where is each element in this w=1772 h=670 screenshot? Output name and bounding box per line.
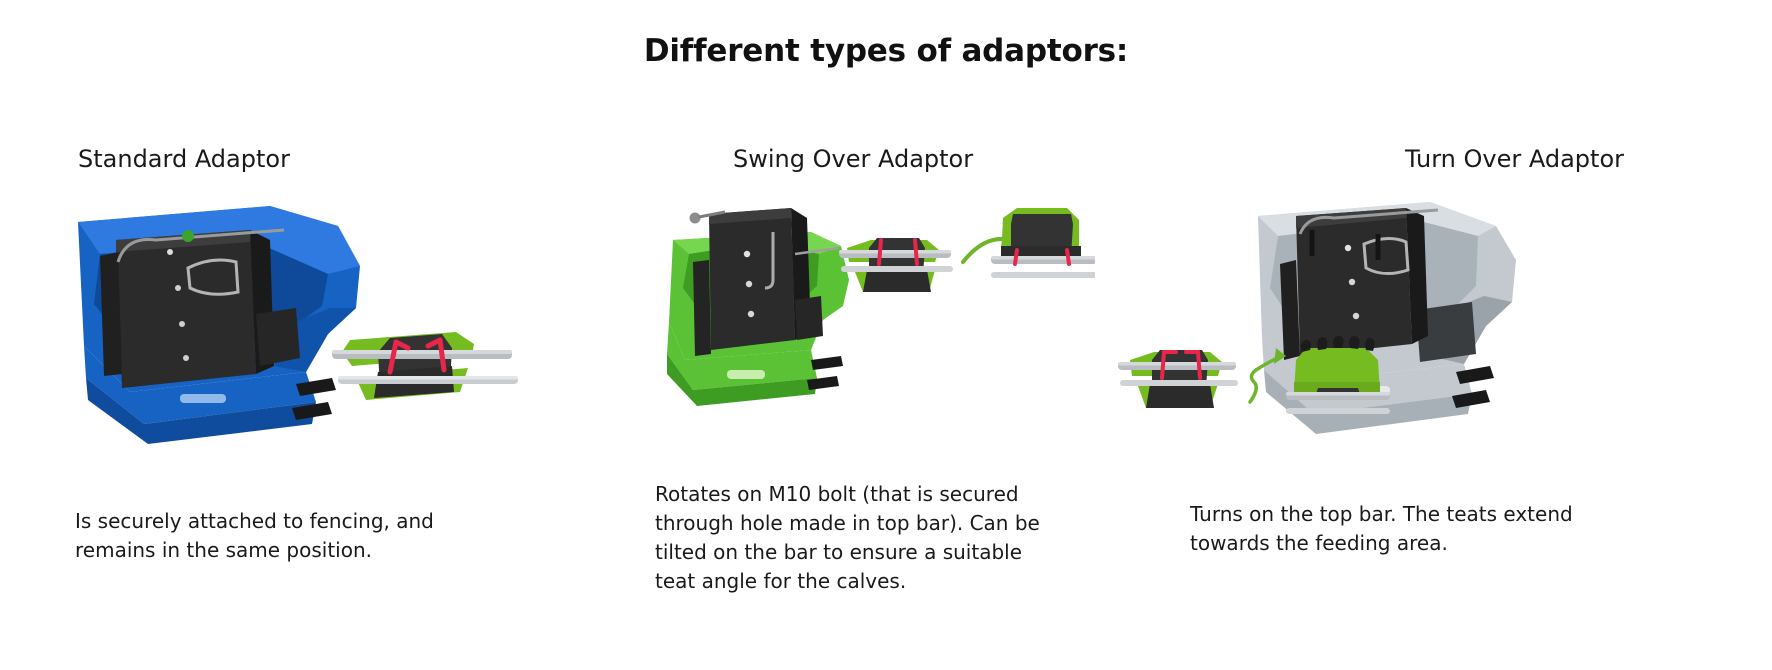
- turn-rotation-arrow: [1250, 348, 1286, 402]
- standard-clamp-diagram: [332, 332, 518, 400]
- swing-clamp-before: [839, 238, 953, 292]
- column-heading-swing-over: Swing Over Adaptor: [733, 145, 973, 173]
- black-mounting-bracket: [100, 230, 300, 388]
- column-body-turn-over: Turns on the top bar. The teats extend t…: [1190, 500, 1640, 558]
- swing-clamp-after: [991, 208, 1095, 278]
- page-title: Different types of adaptors:: [0, 33, 1772, 69]
- column-body-standard: Is securely attached to fencing, and rem…: [75, 507, 505, 565]
- column-heading-turn-over: Turn Over Adaptor: [1405, 145, 1624, 173]
- column-heading-standard: Standard Adaptor: [78, 145, 290, 173]
- turn-clamp-before: [1118, 350, 1238, 408]
- swing-over-clamp-diagram: [835, 200, 1095, 310]
- standard-adaptor-photo: [60, 196, 530, 446]
- turn-clamp-after: [1286, 336, 1390, 414]
- turn-over-clamp-diagram: [1110, 330, 1400, 440]
- column-body-swing-over: Rotates on M10 bolt (that is secured thr…: [655, 480, 1055, 596]
